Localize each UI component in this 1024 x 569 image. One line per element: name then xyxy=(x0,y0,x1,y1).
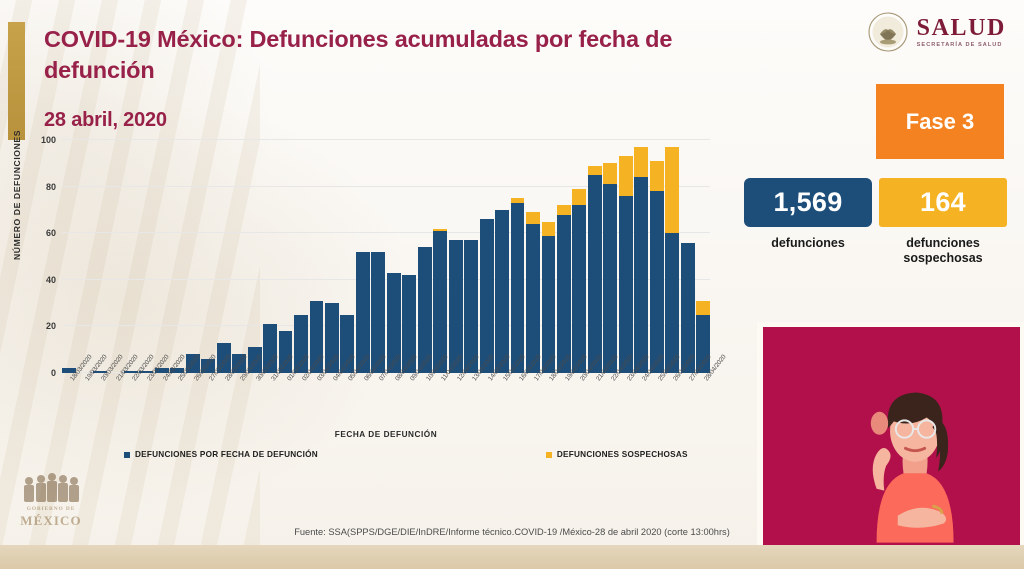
bar-column[interactable] xyxy=(186,140,200,373)
bar-column[interactable] xyxy=(155,140,169,373)
bar-segment-suspected xyxy=(588,166,602,175)
legend-item-suspected: DEFUNCIONES SOSPECHOSAS xyxy=(546,450,688,459)
bar-column[interactable] xyxy=(402,140,416,373)
bar-column[interactable] xyxy=(77,140,91,373)
bar-column[interactable] xyxy=(449,140,463,373)
phase-label: Fase 3 xyxy=(906,109,975,135)
bar-column[interactable] xyxy=(387,140,401,373)
bar-segment-confirmed xyxy=(495,210,509,373)
report-date: 28 abril, 2020 xyxy=(44,109,744,132)
bar-column[interactable] xyxy=(619,140,633,373)
suspected-value: 164 xyxy=(920,187,966,218)
interpreter-video-panel xyxy=(757,322,1024,546)
bar-column[interactable] xyxy=(294,140,308,373)
source-note: Fuente: SSA(SPPS/DGE/DIE/InDRE/Informe t… xyxy=(0,527,1024,537)
bar-column[interactable] xyxy=(650,140,664,373)
bar-column[interactable] xyxy=(495,140,509,373)
bar-column[interactable] xyxy=(263,140,277,373)
confirmed-value: 1,569 xyxy=(773,187,842,218)
y-axis-tick: 100 xyxy=(41,135,56,145)
stat-card-confirmed: 1,569 defunciones xyxy=(744,178,872,267)
bar-segment-suspected xyxy=(542,222,556,236)
bar-column[interactable] xyxy=(371,140,385,373)
bar-column[interactable] xyxy=(124,140,138,373)
bar-column[interactable] xyxy=(542,140,556,373)
bar-segment-confirmed xyxy=(572,205,586,373)
bar-segment-confirmed xyxy=(449,240,463,373)
mexican-eagle-seal-icon xyxy=(868,12,908,52)
title-block: COVID-19 México: Defunciones acumuladas … xyxy=(44,24,744,132)
bar-segment-suspected xyxy=(650,161,664,191)
bar-segment-suspected xyxy=(572,189,586,205)
phase-badge: Fase 3 xyxy=(876,84,1004,159)
bar-segment-suspected xyxy=(526,212,540,224)
suspected-pill: 164 xyxy=(879,178,1007,227)
bar-segment-confirmed xyxy=(588,175,602,373)
salud-name: SALUD xyxy=(917,16,1006,40)
bar-column[interactable] xyxy=(340,140,354,373)
y-axis-tick: 40 xyxy=(46,275,56,285)
watermark-gobierno: GOBIERNO DE xyxy=(8,507,94,512)
bar-column[interactable] xyxy=(62,140,76,373)
bar-column[interactable] xyxy=(93,140,107,373)
bar-segment-suspected xyxy=(557,205,571,214)
bar-segment-suspected xyxy=(634,147,648,177)
bar-segment-confirmed xyxy=(464,240,478,373)
bar-column[interactable] xyxy=(665,140,679,373)
plot-area: 020406080100 xyxy=(62,140,710,373)
stats-row: 1,569 defunciones 164 defunciones sospec… xyxy=(744,178,1007,267)
bar-segment-confirmed xyxy=(480,219,494,373)
confirmed-label: defunciones xyxy=(744,236,872,251)
bar-column[interactable] xyxy=(433,140,447,373)
bar-segment-confirmed xyxy=(511,203,525,373)
salud-subtitle: SECRETARÍA DE SALUD xyxy=(917,43,1006,49)
watermark-mexico: MÉXICO xyxy=(8,514,94,527)
bar-segment-confirmed xyxy=(433,231,447,373)
bar-column[interactable] xyxy=(464,140,478,373)
legend-label-confirmed: DEFUNCIONES POR FECHA DE DEFUNCIÓN xyxy=(135,450,318,459)
heroes-group-icon xyxy=(19,472,83,502)
left-gold-accent-bar xyxy=(8,22,25,140)
bar-column[interactable] xyxy=(681,140,695,373)
bar-column[interactable] xyxy=(279,140,293,373)
bar-segment-confirmed xyxy=(557,215,571,373)
bar-segment-confirmed xyxy=(542,236,556,373)
y-axis-tick: 80 xyxy=(46,182,56,192)
bar-column[interactable] xyxy=(201,140,215,373)
bar-column[interactable] xyxy=(325,140,339,373)
bar-column[interactable] xyxy=(588,140,602,373)
salud-logo: SALUD SECRETARÍA DE SALUD xyxy=(868,12,1006,52)
page-title: COVID-19 México: Defunciones acumuladas … xyxy=(44,24,744,85)
bar-segment-confirmed xyxy=(634,177,648,373)
chart-legend: DEFUNCIONES POR FECHA DE DEFUNCIÓN DEFUN… xyxy=(62,450,710,459)
bar-column[interactable] xyxy=(526,140,540,373)
bar-column[interactable] xyxy=(557,140,571,373)
bar-segment-confirmed xyxy=(681,243,695,373)
legend-swatch-blue-icon xyxy=(124,452,130,458)
y-axis-tick: 20 xyxy=(46,321,56,331)
bar-column[interactable] xyxy=(696,140,710,373)
y-axis-tick: 60 xyxy=(46,228,56,238)
legend-swatch-yellow-icon xyxy=(546,452,552,458)
bar-segment-confirmed xyxy=(665,233,679,373)
bar-column[interactable] xyxy=(418,140,432,373)
bar-segment-suspected xyxy=(619,156,633,196)
footer-band xyxy=(0,545,1024,569)
bar-column[interactable] xyxy=(480,140,494,373)
y-axis-title: NÚMERO DE DEFUNCIONES xyxy=(12,130,22,260)
bar-segment-suspected xyxy=(603,163,617,184)
chart: NÚMERO DE DEFUNCIONES 020406080100 18/03… xyxy=(18,140,728,470)
bar-column[interactable] xyxy=(603,140,617,373)
salud-wordmark: SALUD SECRETARÍA DE SALUD xyxy=(917,16,1006,49)
y-axis-tick: 0 xyxy=(51,368,56,378)
bar-segment-confirmed xyxy=(603,184,617,373)
bar-column[interactable] xyxy=(310,140,324,373)
interpreter-video[interactable] xyxy=(763,327,1020,546)
bar-column[interactable] xyxy=(356,140,370,373)
gobierno-de-mexico-watermark: GOBIERNO DE MÉXICO xyxy=(8,472,94,527)
bar-segment-confirmed xyxy=(650,191,664,373)
legend-label-suspected: DEFUNCIONES SOSPECHOSAS xyxy=(557,450,688,459)
sign-language-interpreter-icon xyxy=(763,327,1020,543)
bar-column[interactable] xyxy=(634,140,648,373)
bar-column[interactable] xyxy=(572,140,586,373)
bar-column[interactable] xyxy=(139,140,153,373)
bar-segment-suspected xyxy=(665,147,679,233)
bar-column[interactable] xyxy=(217,140,231,373)
bar-column[interactable] xyxy=(170,140,184,373)
bar-column[interactable] xyxy=(232,140,246,373)
bar-column[interactable] xyxy=(248,140,262,373)
stat-card-suspected: 164 defunciones sospechosas xyxy=(879,178,1007,267)
suspected-label: defunciones sospechosas xyxy=(879,236,1007,267)
confirmed-pill: 1,569 xyxy=(744,178,872,227)
legend-item-confirmed: DEFUNCIONES POR FECHA DE DEFUNCIÓN xyxy=(124,450,318,459)
bar-segment-confirmed xyxy=(526,224,540,373)
bar-segment-suspected xyxy=(696,301,710,315)
bar-segment-confirmed xyxy=(619,196,633,373)
bar-column[interactable] xyxy=(511,140,525,373)
bar-series xyxy=(62,140,710,373)
x-axis-title: FECHA DE DEFUNCIÓN xyxy=(62,430,710,439)
bar-column[interactable] xyxy=(108,140,122,373)
